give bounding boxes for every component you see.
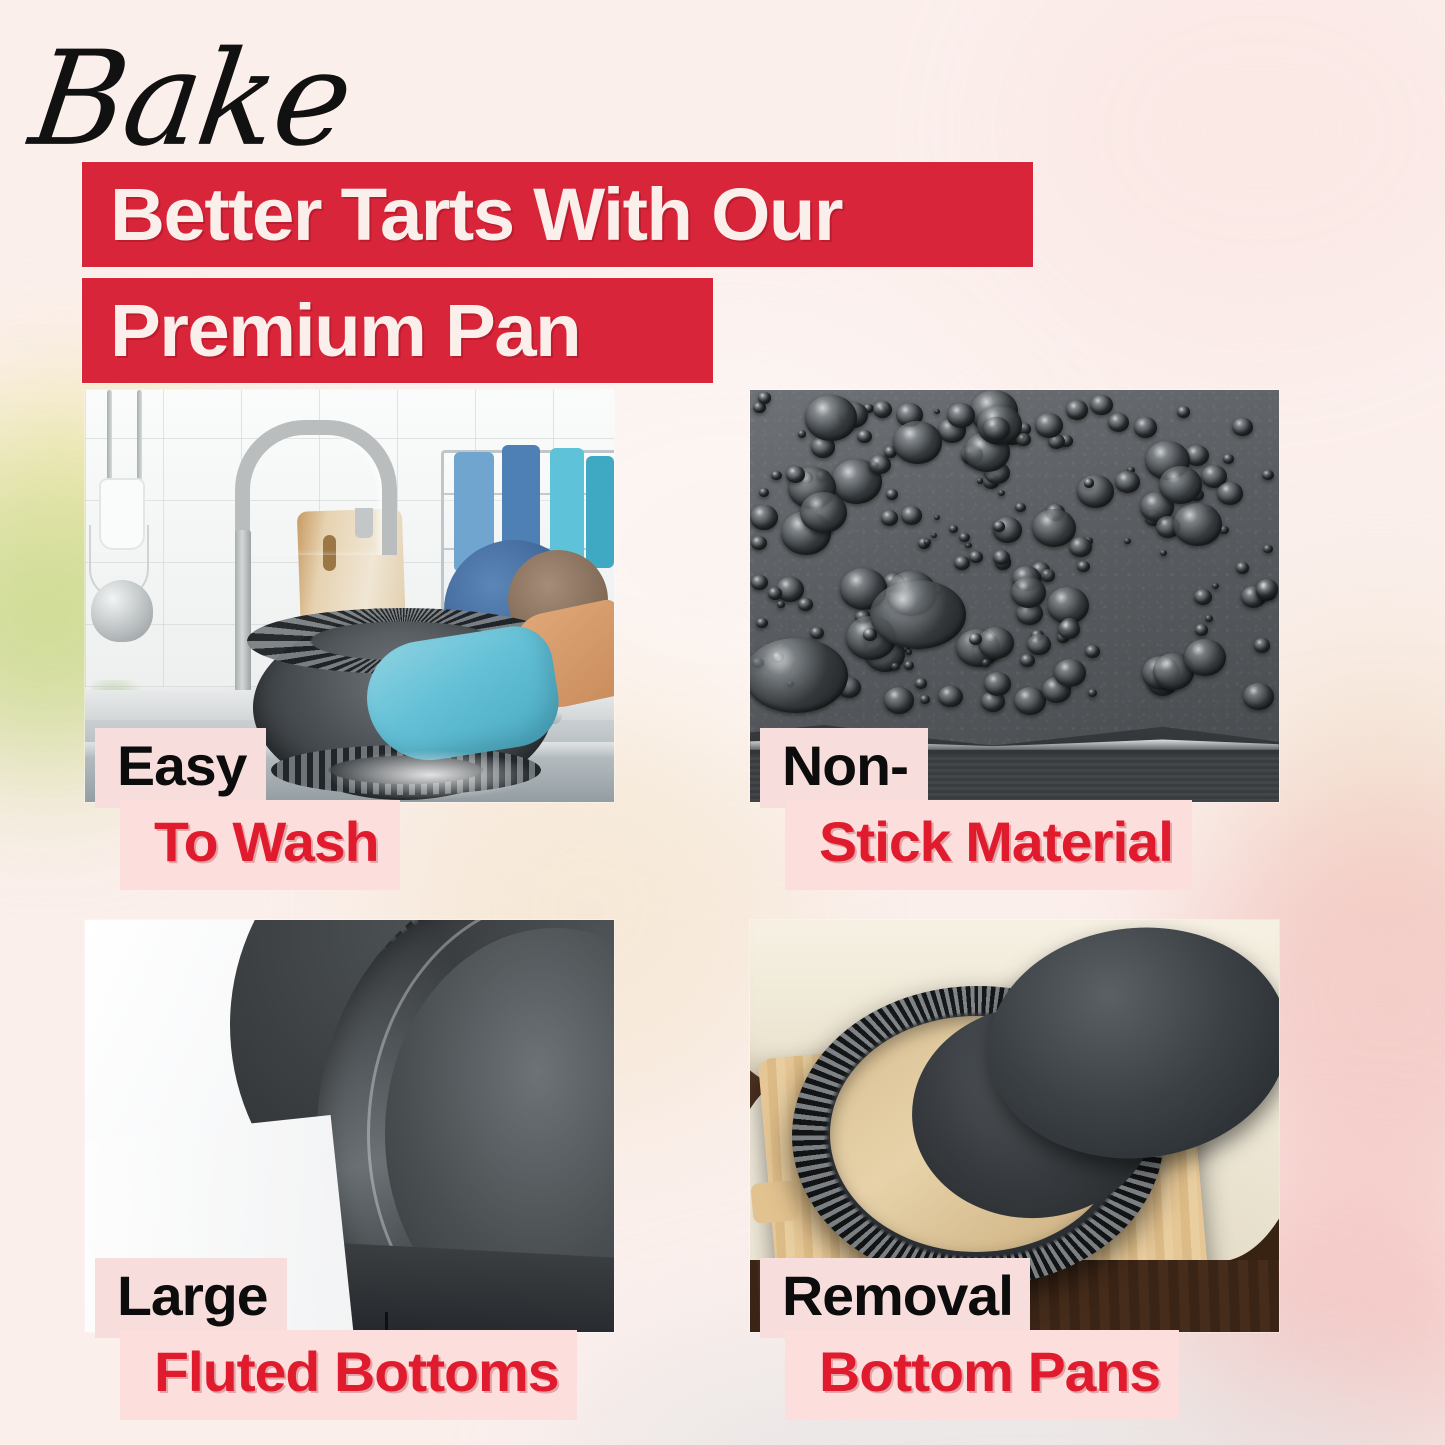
headline-line1-text: Better Tarts With Our (110, 178, 842, 252)
water-droplet (869, 455, 891, 475)
caption-bottom-removal-bottom-pans: Bottom Pans (785, 1330, 1179, 1420)
water-droplet (1184, 639, 1226, 676)
water-droplet (810, 627, 824, 639)
water-droplet (969, 551, 983, 563)
water-droplet (1217, 482, 1243, 505)
caption-bottom-easy-to-wash: To Wash (120, 800, 400, 890)
water-droplet (931, 533, 937, 538)
caption-bottom-label: Stick Material (819, 814, 1173, 870)
water-droplet (786, 466, 805, 482)
water-droplet (1134, 417, 1158, 438)
water-droplet (1085, 645, 1100, 658)
water-droplet (998, 490, 1005, 496)
caption-top-label: Easy (117, 738, 246, 794)
caption-top-removal-bottom-pans: Removal (760, 1258, 1030, 1338)
water-droplet (1090, 395, 1113, 415)
water-droplet (1195, 624, 1208, 635)
water-droplet (1041, 569, 1056, 582)
caption-top-label: Removal (782, 1268, 1013, 1324)
water-droplet (873, 401, 892, 418)
water-droplet (1205, 615, 1213, 622)
headline-band-line2: Premium Pan (82, 278, 713, 383)
background-blob-top-right (1000, 0, 1445, 340)
water-droplet (1173, 503, 1222, 546)
water-droplet (984, 672, 1011, 696)
water-droplet (1263, 545, 1273, 553)
water-droplet (1160, 550, 1167, 556)
caption-top-label: Non- (782, 738, 908, 794)
script-headline-bake: Bake (24, 35, 358, 166)
water-droplet (1256, 579, 1279, 599)
water-droplet (906, 649, 913, 655)
water-droplet (1084, 478, 1094, 487)
water-droplet (798, 598, 812, 611)
caption-top-label: Large (117, 1268, 267, 1324)
water-droplet (1243, 683, 1273, 710)
water-droplet (1254, 638, 1270, 652)
water-droplet (750, 505, 778, 530)
water-droplet (1236, 562, 1249, 574)
water-droplet-large (750, 638, 848, 713)
water-droplet (969, 633, 982, 645)
water-droplet (1066, 400, 1088, 419)
water-droplet (800, 492, 847, 533)
caption-bottom-label: To Wash (154, 814, 378, 870)
water-droplet (1159, 466, 1202, 504)
water-droplet (884, 687, 914, 713)
water-droplet (915, 678, 927, 688)
water-droplet (947, 403, 975, 428)
water-droplet (993, 550, 1010, 565)
water-droplet (1015, 503, 1026, 513)
water-droplet (881, 510, 898, 525)
water-droplet (901, 506, 922, 525)
water-droplet (771, 471, 781, 480)
water-droplet (924, 539, 930, 544)
water-droplet (768, 587, 783, 600)
water-droplet (756, 618, 768, 628)
caption-bottom-label: Bottom Pans (819, 1344, 1160, 1400)
water-droplet (1027, 634, 1050, 655)
water-droplet (805, 395, 857, 440)
caption-top-large-fluted-bottoms: Large (95, 1258, 287, 1338)
water-droplet (1232, 418, 1253, 436)
caption-bottom-label: Fluted Bottoms (154, 1344, 559, 1400)
water-droplet (1077, 475, 1114, 508)
water-droplet (1115, 471, 1140, 493)
water-droplet (751, 575, 768, 590)
water-droplet (978, 627, 1014, 659)
caption-bottom-non-stick-material: Stick Material (785, 800, 1192, 890)
water-droplet (965, 543, 972, 549)
water-droplet (777, 601, 784, 608)
product-feature-poster: Bake Better Tarts With Our Premium Pan (0, 0, 1445, 1445)
caption-top-easy-to-wash: Easy (95, 728, 266, 808)
water-droplet (983, 417, 1010, 441)
water-droplet (1069, 537, 1092, 557)
water-droplet (1011, 577, 1046, 608)
water-droplet (857, 430, 872, 443)
water-droplet (949, 525, 958, 533)
water-droplet (920, 695, 930, 704)
water-droplet-large (870, 580, 966, 649)
water-droplet (1262, 470, 1273, 480)
headline-band-line1: Better Tarts With Our (82, 162, 1033, 267)
headline-line2-text: Premium Pan (110, 294, 580, 368)
water-droplet (1014, 687, 1046, 715)
caption-bottom-large-fluted-bottoms: Fluted Bottoms (120, 1330, 577, 1420)
caption-top-non-stick-material: Non- (760, 728, 928, 808)
water-droplet (1032, 509, 1076, 547)
water-droplet (798, 430, 807, 438)
water-droplet (1108, 413, 1129, 432)
water-droplet (751, 536, 767, 550)
water-droplet (1124, 538, 1131, 544)
water-droplet (893, 421, 942, 464)
